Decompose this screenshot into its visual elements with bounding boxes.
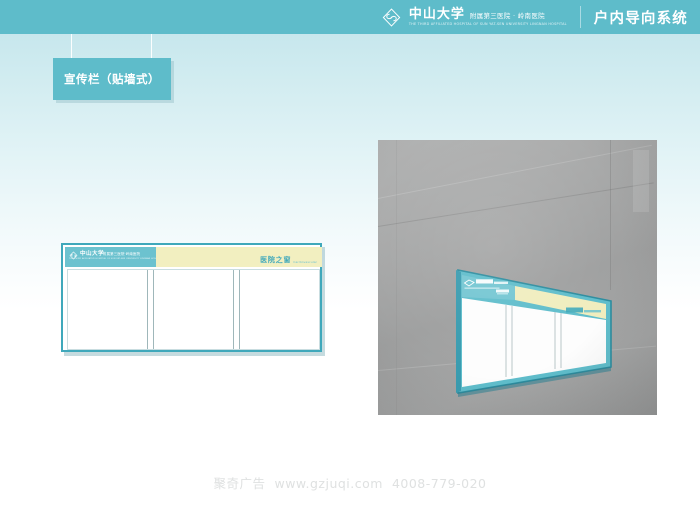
connector-line-right xyxy=(151,34,152,59)
board-banner-en: Cardiovascular xyxy=(293,260,317,265)
board-frame: 中山大学 附属第三医院·岭南医院 THE THIRD AFFILIATED HO… xyxy=(61,243,322,352)
footer-phone: 4008-779-020 xyxy=(392,476,487,491)
top-header-bar: 中山大学 附属第三医院 · 岭南医院 THE THIRD AFFILIATED … xyxy=(0,0,700,34)
board-logo-cn: 中山大学 xyxy=(80,251,104,257)
board-panel-1 xyxy=(68,270,147,349)
board-header-strip: 中山大学 附属第三医院·岭南医院 THE THIRD AFFILIATED HO… xyxy=(65,247,322,267)
board-header-left-logo-area: 中山大学 附属第三医院·岭南医院 THE THIRD AFFILIATED HO… xyxy=(65,247,156,267)
bulletin-board-drawing: 中山大学 附属第三医院·岭南医院 THE THIRD AFFILIATED HO… xyxy=(61,243,322,352)
board-banner-strip: 医院之窗 Cardiovascular xyxy=(156,247,322,267)
header-divider xyxy=(580,6,581,28)
header-logo-row: 中山大学 附属第三医院 · 岭南医院 xyxy=(409,8,567,21)
board-banner-text-group: 医院之窗 Cardiovascular xyxy=(260,256,317,264)
header-logo-cn-sub: 附属第三医院 · 岭南医院 xyxy=(470,12,545,21)
footer-watermark: 聚奇广告 www.gzjuqi.com 4008-779-020 xyxy=(0,473,700,492)
header-logo-en: THE THIRD AFFILIATED HOSPITAL OF SUN YAT… xyxy=(409,22,567,26)
footer-company: 聚奇广告 xyxy=(213,473,265,492)
board-panel-2 xyxy=(154,270,233,349)
installation-photo xyxy=(378,140,657,415)
board-logo-cn-sub: 附属第三医院·岭南医院 xyxy=(103,252,140,256)
board-banner-cn: 医院之窗 xyxy=(260,256,291,264)
header-logo-cn: 中山大学 xyxy=(409,8,465,21)
header-logo-text-block: 中山大学 附属第三医院 · 岭南医院 THE THIRD AFFILIATED … xyxy=(409,8,567,26)
page-root: 中山大学 附属第三医院 · 岭南医院 THE THIRD AFFILIATED … xyxy=(0,0,700,516)
photo-vignette-overlay xyxy=(378,140,657,415)
sun-yat-sen-university-emblem-icon xyxy=(381,7,402,28)
board-panel-area xyxy=(67,269,320,350)
section-title-box: 宣传栏（贴墙式） xyxy=(53,58,171,100)
section-title-label: 宣传栏（贴墙式） xyxy=(64,71,160,87)
connector-line-left xyxy=(71,34,72,59)
board-panel-3 xyxy=(240,270,319,349)
header-brand-group: 中山大学 附属第三医院 · 岭南医院 THE THIRD AFFILIATED … xyxy=(381,0,688,34)
header-title: 户内导向系统 xyxy=(594,7,688,28)
footer-website: www.gzjuqi.com xyxy=(274,476,382,491)
